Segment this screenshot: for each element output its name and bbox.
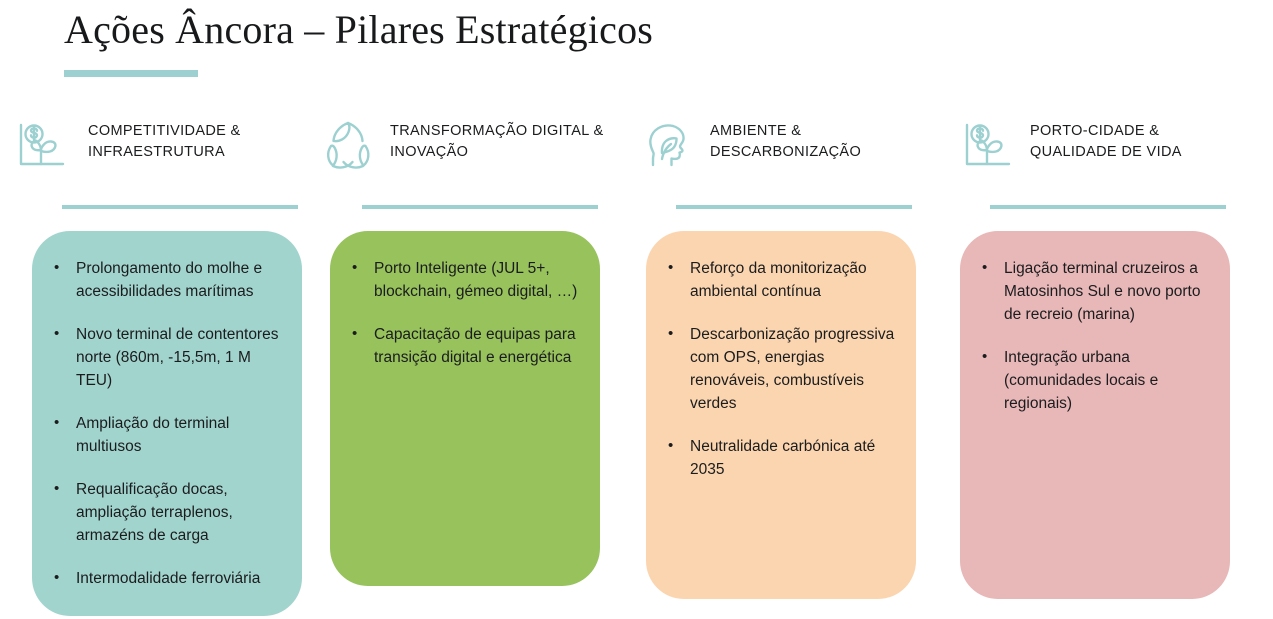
pillar-header-4: PORTO-CIDADE & QUALIDADE DE VIDA <box>960 115 1273 185</box>
recycle-leaves-icon <box>320 117 376 173</box>
pillar-card-3: Reforço da monitorização ambiental contí… <box>646 231 916 599</box>
pillar-card-4: Ligação terminal cruzeiros a Matosinhos … <box>960 231 1230 599</box>
pillar-bullet-list-4: Ligação terminal cruzeiros a Matosinhos … <box>974 257 1214 415</box>
pillar-bullet-list-3: Reforço da monitorização ambiental contí… <box>660 257 900 481</box>
pillar-title-3: AMBIENTE & DESCARBONIZAÇÃO <box>696 115 926 163</box>
title-block: Ações Âncora – Pilares Estratégicos <box>64 6 1214 54</box>
list-item: Novo terminal de contentores norte (860m… <box>46 323 286 392</box>
pillar-column-3: AMBIENTE & DESCARBONIZAÇÃO Reforço da mo… <box>640 115 960 615</box>
list-item: Integração urbana (comunidades locais e … <box>974 346 1214 415</box>
plant-growth-dollar-icon <box>14 117 70 173</box>
plant-growth-dollar-icon <box>960 117 1016 173</box>
list-item: Ampliação do terminal multiusos <box>46 412 286 458</box>
list-item: Ligação terminal cruzeiros a Matosinhos … <box>974 257 1214 326</box>
list-item: Descarbonização progressiva com OPS, ene… <box>660 323 900 415</box>
head-leaf-icon <box>640 117 696 173</box>
pillar-column-4: PORTO-CIDADE & QUALIDADE DE VIDA Ligação… <box>960 115 1273 615</box>
pillar-rule-3 <box>676 205 912 209</box>
pillar-header-2: TRANSFORMAÇÃO DIGITAL & INOVAÇÃO <box>320 115 640 185</box>
pillar-title-2: TRANSFORMAÇÃO DIGITAL & INOVAÇÃO <box>376 115 606 163</box>
list-item: Neutralidade carbónica até 2035 <box>660 435 900 481</box>
pillar-bullet-list-1: Prolongamento do molhe e acessibilidades… <box>46 257 286 590</box>
pillar-rule-4 <box>990 205 1226 209</box>
title-underline-rule <box>64 70 198 77</box>
pillar-title-1: COMPETITIVIDADE & INFRAESTRUTURA <box>70 115 300 163</box>
pillar-card-1: Prolongamento do molhe e acessibilidades… <box>32 231 302 616</box>
list-item: Prolongamento do molhe e acessibilidades… <box>46 257 286 303</box>
pillar-bullet-list-2: Porto Inteligente (JUL 5+, blockchain, g… <box>344 257 584 369</box>
pillar-column-2: TRANSFORMAÇÃO DIGITAL & INOVAÇÃO Porto I… <box>320 115 640 615</box>
list-item: Intermodalidade ferroviária <box>46 567 286 590</box>
list-item: Porto Inteligente (JUL 5+, blockchain, g… <box>344 257 584 303</box>
pillar-column-1: COMPETITIVIDADE & INFRAESTRUTURA Prolong… <box>0 115 320 615</box>
pillar-header-1: COMPETITIVIDADE & INFRAESTRUTURA <box>14 115 320 185</box>
slide-canvas: Ações Âncora – Pilares Estratégicos <box>0 0 1273 619</box>
list-item: Capacitação de equipas para transição di… <box>344 323 584 369</box>
pillar-header-3: AMBIENTE & DESCARBONIZAÇÃO <box>640 115 960 185</box>
list-item: Reforço da monitorização ambiental contí… <box>660 257 900 303</box>
pillar-rule-2 <box>362 205 598 209</box>
pillar-card-2: Porto Inteligente (JUL 5+, blockchain, g… <box>330 231 600 586</box>
pillar-rule-1 <box>62 205 298 209</box>
pillar-columns: COMPETITIVIDADE & INFRAESTRUTURA Prolong… <box>0 115 1273 615</box>
list-item: Requalificação docas, ampliação terraple… <box>46 478 286 547</box>
page-title: Ações Âncora – Pilares Estratégicos <box>64 6 1214 54</box>
pillar-title-4: PORTO-CIDADE & QUALIDADE DE VIDA <box>1016 115 1246 163</box>
